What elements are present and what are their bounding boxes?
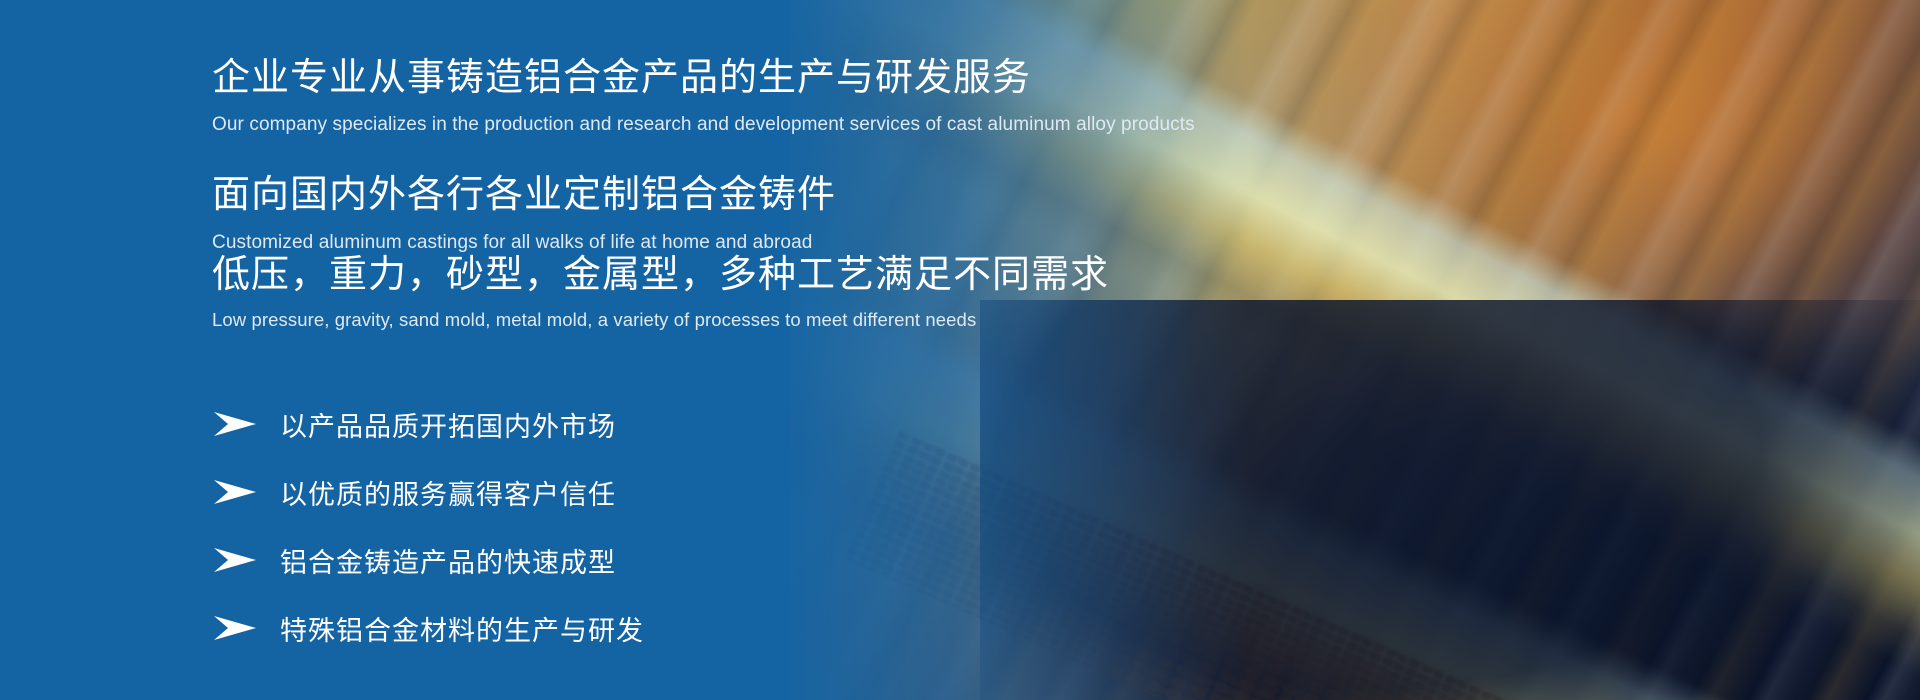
headline-block-1: 企业专业从事铸造铝合金产品的生产与研发服务 Our company specia… — [212, 58, 1195, 136]
headline-cn-1: 企业专业从事铸造铝合金产品的生产与研发服务 — [212, 58, 1195, 100]
headline-en-3: Low pressure, gravity, sand mold, metal … — [212, 309, 1109, 331]
headline-en-2: Customized aluminum castings for all wal… — [212, 232, 836, 254]
list-item[interactable]: 以优质的服务赢得客户信任 — [212, 458, 644, 526]
arrow-right-icon — [212, 479, 258, 505]
arrow-right-icon — [212, 411, 258, 437]
list-item-label: 以优质的服务赢得客户信任 — [280, 473, 616, 512]
headline-en-1: Our company specializes in the productio… — [212, 114, 1195, 136]
banner-content: 企业专业从事铸造铝合金产品的生产与研发服务 Our company specia… — [212, 0, 1412, 700]
hero-banner: 企业专业从事铸造铝合金产品的生产与研发服务 Our company specia… — [0, 0, 1920, 700]
headline-block-3: 低压，重力，砂型，金属型，多种工艺满足不同需求 Low pressure, gr… — [212, 255, 1109, 331]
arrow-right-icon — [212, 615, 258, 641]
list-item[interactable]: 铝合金铸造产品的快速成型 — [212, 526, 644, 594]
list-item-label: 以产品品质开拓国内外市场 — [280, 405, 616, 444]
headline-block-2: 面向国内外各行各业定制铝合金铸件 Customized aluminum cas… — [212, 175, 836, 254]
list-item-label: 特殊铝合金材料的生产与研发 — [280, 609, 644, 648]
arrow-right-icon — [212, 547, 258, 573]
feature-bullet-list: 以产品品质开拓国内外市场 以优质的服务赢得客户信任 铝合金铸造产品的快速成型 特… — [212, 390, 644, 662]
list-item-label: 铝合金铸造产品的快速成型 — [280, 541, 616, 580]
headline-cn-2: 面向国内外各行各业定制铝合金铸件 — [212, 175, 836, 217]
headline-cn-3: 低压，重力，砂型，金属型，多种工艺满足不同需求 — [212, 255, 1109, 297]
list-item[interactable]: 以产品品质开拓国内外市场 — [212, 390, 644, 458]
list-item[interactable]: 特殊铝合金材料的生产与研发 — [212, 594, 644, 662]
